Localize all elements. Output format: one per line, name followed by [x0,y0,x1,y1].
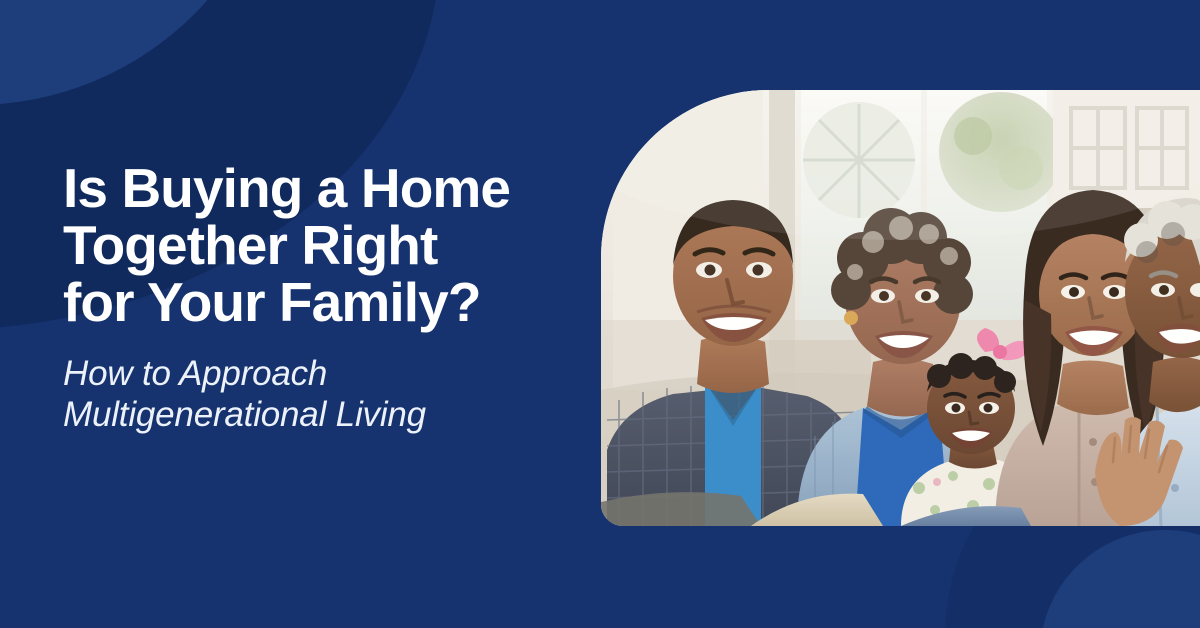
family-photo [601,90,1200,526]
page-subtitle: How to Approach Multigenerational Living [63,353,603,436]
family-photo-artwork [601,90,1200,526]
blog-banner: Is Buying a Home Together Right for Your… [0,0,1200,628]
text-block: Is Buying a Home Together Right for Your… [63,160,603,435]
page-title: Is Buying a Home Together Right for Your… [63,160,603,331]
